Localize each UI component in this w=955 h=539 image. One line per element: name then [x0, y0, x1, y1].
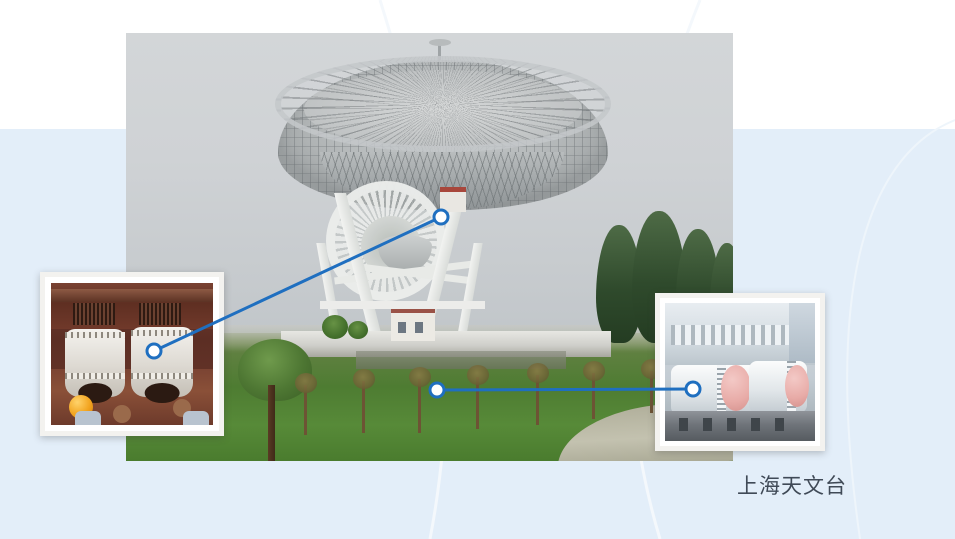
- small-tree: [348, 321, 368, 339]
- sky-patch: [789, 303, 815, 363]
- anchor-bolt: [679, 418, 688, 431]
- sapling: [476, 377, 479, 429]
- inset-right-image: [665, 303, 815, 441]
- caption-label: 上海天文台: [737, 470, 847, 500]
- worker-torso: [183, 411, 209, 425]
- anchor-bolt: [727, 418, 736, 431]
- service-hut: [391, 309, 435, 341]
- bolt-row: [671, 325, 801, 345]
- worker-head: [113, 405, 131, 423]
- sapling: [362, 381, 365, 433]
- sapling: [650, 371, 653, 413]
- pink-end-cover: [785, 365, 809, 407]
- inset-left-image: [51, 283, 213, 425]
- gear-teeth: [139, 303, 181, 325]
- slide-canvas: 上海天文台: [0, 0, 955, 539]
- anchor-bolt: [775, 418, 784, 431]
- rusty-beam: [51, 289, 213, 302]
- drive-cylinder: [131, 327, 193, 397]
- drive-cylinder: [65, 329, 125, 397]
- sapling: [592, 373, 595, 419]
- gear-teeth: [73, 303, 115, 325]
- worker-torso: [75, 411, 101, 425]
- small-tree: [322, 315, 348, 339]
- sapling: [418, 379, 421, 433]
- red-roof-cabin: [440, 187, 466, 212]
- inset-photo-left: [40, 272, 224, 436]
- mount-crossbeam: [320, 301, 485, 309]
- sapling: [536, 375, 539, 425]
- anchor-bolt: [703, 418, 712, 431]
- anchor-bolt: [751, 418, 760, 431]
- dish-rim: [275, 56, 611, 152]
- sapling: [304, 385, 307, 435]
- pink-end-cover: [721, 365, 751, 411]
- inset-photo-right: [655, 293, 825, 451]
